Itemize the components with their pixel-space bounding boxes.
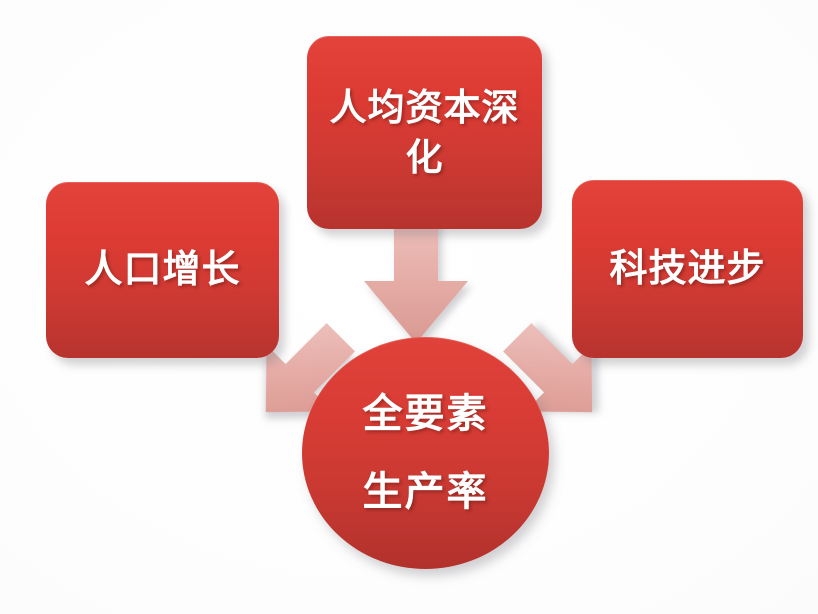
node-technology-progress[interactable]: 科技进步 [572,180,803,358]
node-capital-deepening-label: 人均资本深 化 [316,83,534,183]
node-total-factor-productivity-label: 全要素 生产率 [349,375,503,531]
node-capital-deepening[interactable]: 人均资本深 化 [307,36,542,229]
node-population-growth-label: 人口增长 [70,247,254,293]
node-technology-progress-label: 科技进步 [595,246,779,292]
node-population-growth[interactable]: 人口增长 [46,182,279,358]
diagram-canvas: 人均资本深 化 人口增长 科技进步 全要素 生产率 [0,0,818,614]
node-total-factor-productivity[interactable]: 全要素 生产率 [302,337,549,569]
